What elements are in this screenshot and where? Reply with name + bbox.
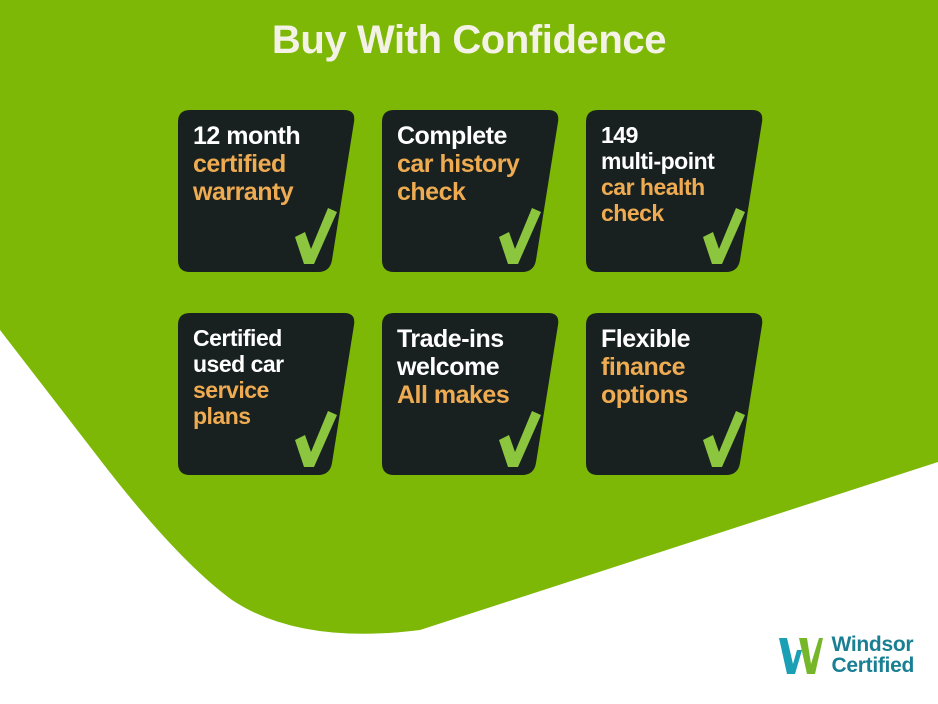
card-text: Trade-ins welcome All makes bbox=[397, 325, 545, 409]
card-line-orange: certified bbox=[193, 150, 341, 178]
card-text: 12 month certified warranty bbox=[193, 122, 341, 206]
benefit-card-certified-warranty[interactable]: 12 month certified warranty bbox=[178, 110, 356, 272]
card-line-white: Complete bbox=[397, 122, 545, 150]
windsor-certified-logo[interactable]: Windsor Certified bbox=[777, 634, 914, 676]
card-line-orange: service bbox=[193, 377, 341, 403]
card-line-white: Flexible bbox=[601, 325, 749, 353]
card-line-white: welcome bbox=[397, 353, 545, 381]
check-icon bbox=[700, 208, 746, 264]
check-icon bbox=[292, 411, 338, 467]
card-line-orange: car history bbox=[397, 150, 545, 178]
logo-line-2: Certified bbox=[832, 655, 914, 676]
benefit-card-trade-ins[interactable]: Trade-ins welcome All makes bbox=[382, 313, 560, 475]
card-line-white: used car bbox=[193, 351, 341, 377]
logo-wordmark: Windsor Certified bbox=[832, 634, 914, 676]
card-line-orange: warranty bbox=[193, 178, 341, 206]
logo-line-1: Windsor bbox=[832, 634, 914, 655]
card-text: Flexible finance options bbox=[601, 325, 749, 409]
benefit-card-grid: 12 month certified warranty Complete car… bbox=[178, 110, 758, 475]
card-line-white: 149 bbox=[601, 122, 749, 148]
poster-canvas: Buy With Confidence 12 month certified w… bbox=[0, 0, 938, 704]
card-text: Complete car history check bbox=[397, 122, 545, 206]
card-line-orange: check bbox=[397, 178, 545, 206]
card-line-orange: finance bbox=[601, 353, 749, 381]
card-line-orange: All makes bbox=[397, 381, 545, 409]
card-line-white: Trade-ins bbox=[397, 325, 545, 353]
check-icon bbox=[292, 208, 338, 264]
card-line-orange: options bbox=[601, 381, 749, 409]
benefit-card-car-history-check[interactable]: Complete car history check bbox=[382, 110, 560, 272]
card-line-white: multi-point bbox=[601, 148, 749, 174]
check-icon bbox=[700, 411, 746, 467]
page-title: Buy With Confidence bbox=[0, 18, 938, 63]
card-line-white: 12 month bbox=[193, 122, 341, 150]
benefit-card-service-plans[interactable]: Certified used car service plans bbox=[178, 313, 356, 475]
check-icon bbox=[496, 208, 542, 264]
benefit-card-multi-point-check[interactable]: 149 multi-point car health check bbox=[586, 110, 764, 272]
card-line-white: Certified bbox=[193, 325, 341, 351]
windsor-w-icon bbox=[777, 634, 823, 676]
check-icon bbox=[496, 411, 542, 467]
card-line-orange: car health bbox=[601, 174, 749, 200]
benefit-card-finance-options[interactable]: Flexible finance options bbox=[586, 313, 764, 475]
